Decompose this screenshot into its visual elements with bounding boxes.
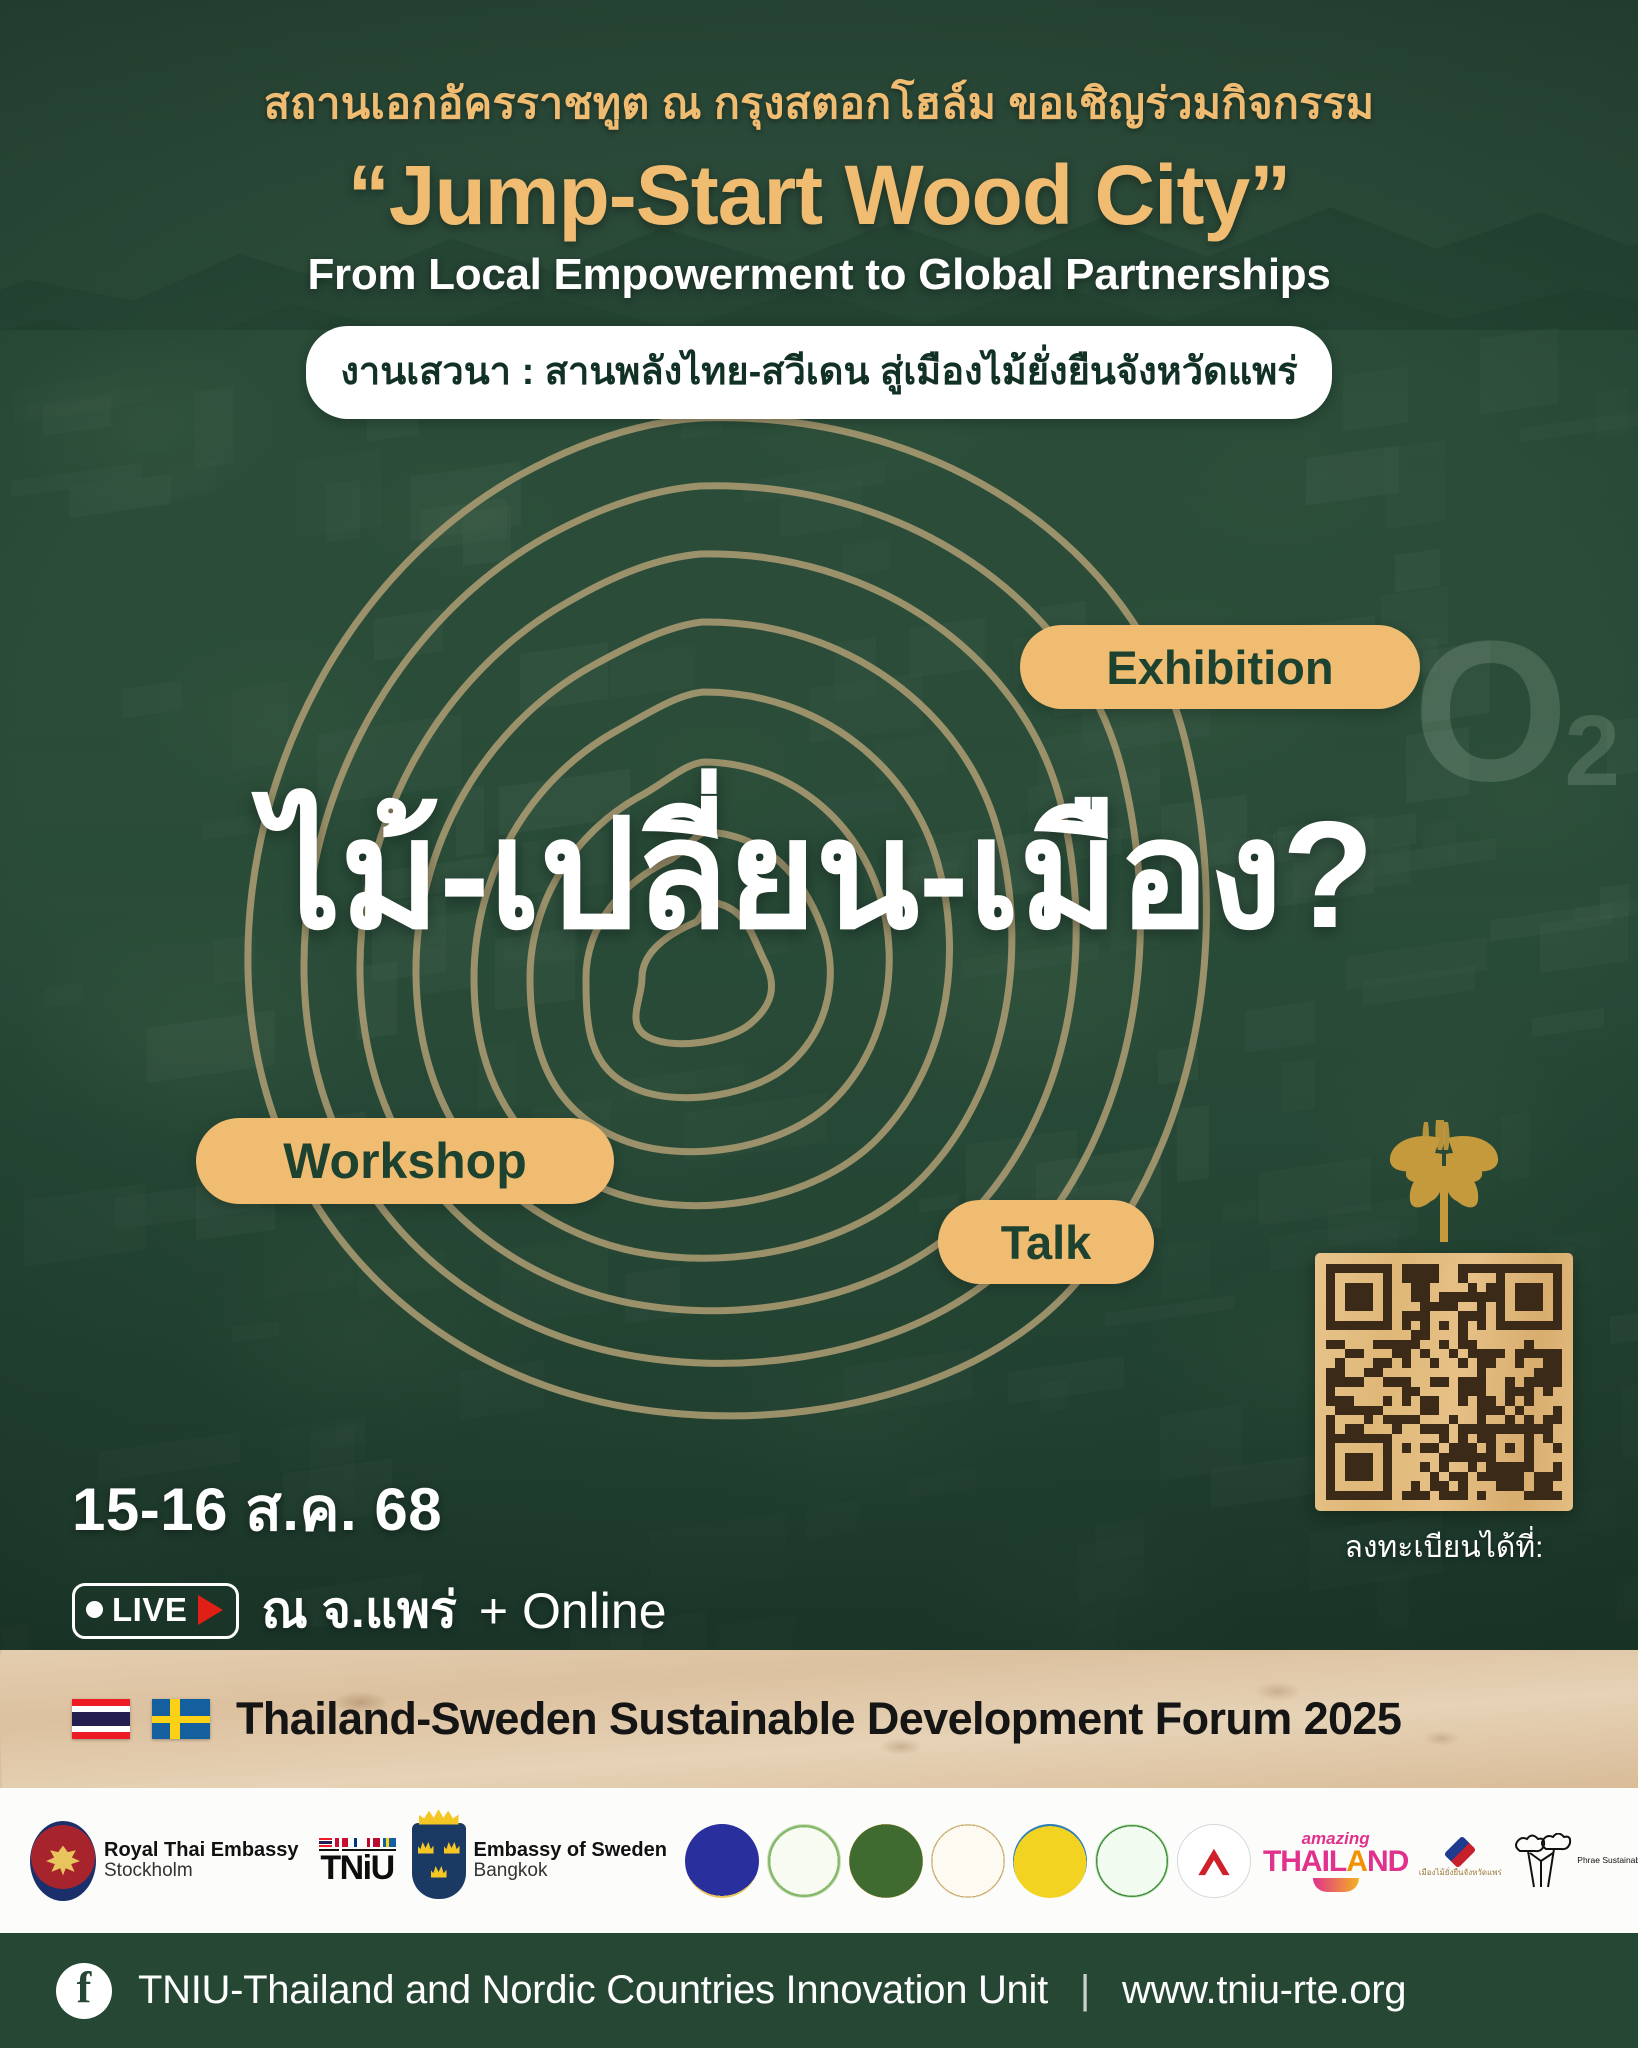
- registration-qr-block[interactable]: ลงทะเบียนได้ที่:: [1294, 1110, 1594, 1571]
- royal-thai-emblem-icon: [30, 1821, 96, 1901]
- logo-royal-thai-embassy: Royal Thai Embassy Stockholm: [30, 1821, 299, 1901]
- logo-phrae-wood-city: เมืองไม้ยั่งยืนจังหวัดแพร่: [1418, 1843, 1502, 1877]
- registration-qr-code[interactable]: [1315, 1253, 1573, 1511]
- phrae-caption: เมืองไม้ยั่งยืนจังหวัดแพร่: [1418, 1868, 1502, 1877]
- event-details: 15-16 ส.ค. 68 LIVE ณ จ.แพร่ + Online: [72, 1462, 667, 1650]
- forum-name-pill: งานเสวนา : สานพลังไทย-สวีเดน สู่เมืองไม้…: [306, 326, 1331, 419]
- event-date: 15-16 ส.ค. 68: [72, 1462, 667, 1557]
- live-badge: LIVE: [72, 1583, 239, 1639]
- event-poster: O2 สถานเอกอัครราชทูต ณ กรุงสตอกโฮล์ม ขอเ…: [0, 0, 1638, 2048]
- partner-logo-strip: Royal Thai Embassy Stockholm TNiU Embass…: [0, 1788, 1638, 1933]
- royal-thai-embassy-line2: Stockholm: [104, 1860, 193, 1881]
- logo-amazing-thailand: amazing THAILAND: [1263, 1830, 1408, 1892]
- logo-ministry-seal-7: [1177, 1824, 1251, 1898]
- trees-icon: [1510, 1833, 1572, 1889]
- wood-city-committee-caption: Phrae Sustainable Wood City Committee: [1577, 1855, 1638, 1865]
- logo-ministry-seal-2: [767, 1824, 841, 1898]
- tniu-wordmark: TNiU: [319, 1853, 396, 1884]
- embassy-sweden-line2: Bangkok: [474, 1860, 548, 1881]
- forum-banner-text: Thailand-Sweden Sustainable Development …: [236, 1693, 1401, 1745]
- o2-subscript: 2: [1564, 695, 1616, 807]
- category-pill-exhibition[interactable]: Exhibition: [1020, 625, 1420, 709]
- sweden-flag-icon: [152, 1699, 210, 1739]
- thailand-flag-icon: [72, 1699, 130, 1739]
- royal-thai-embassy-line1: Royal Thai Embassy: [104, 1839, 299, 1861]
- amazing-thailand-swoosh-icon: [1313, 1878, 1359, 1892]
- invitation-line: สถานเอกอัครราชทูต ณ กรุงสตอกโฮล์ม ขอเชิญ…: [0, 78, 1638, 132]
- poster-header: สถานเอกอัครราชทูต ณ กรุงสตอกโฮล์ม ขอเชิญ…: [0, 0, 1638, 419]
- category-pill-workshop[interactable]: Workshop: [196, 1118, 614, 1204]
- event-venue: ณ จ.แพร่: [261, 1571, 457, 1650]
- sprout-plant-icon: [1374, 1110, 1514, 1245]
- page-title: “Jump-Start Wood City”: [0, 150, 1638, 241]
- logo-wood-city-committee: Phrae Sustainable Wood City Committee: [1510, 1833, 1638, 1889]
- logo-tniu: TNiU: [319, 1838, 396, 1884]
- sweden-three-crowns-icon: [412, 1823, 466, 1899]
- live-label: LIVE: [112, 1591, 187, 1629]
- hero-headline: ไม้-เปลี่ยน-เมือง?: [0, 792, 1638, 959]
- nordic-flags-icon: [319, 1838, 396, 1847]
- website-link[interactable]: www.tniu-rte.org: [1122, 1968, 1406, 2013]
- embassy-sweden-line1: Embassy of Sweden: [474, 1839, 667, 1861]
- facebook-icon[interactable]: f: [56, 1963, 112, 2019]
- event-online-note: + Online: [479, 1582, 667, 1640]
- o2-watermark: O2: [1413, 612, 1616, 812]
- play-triangle-icon: [198, 1595, 223, 1625]
- footer-separator: |: [1074, 1968, 1096, 2013]
- forum-wood-banner: Thailand-Sweden Sustainable Development …: [0, 1650, 1638, 1788]
- amazing-thailand-wordmark: THAILAND: [1263, 1847, 1408, 1877]
- logo-embassy-of-sweden: Embassy of Sweden Bangkok: [412, 1823, 667, 1899]
- page-subtitle: From Local Empowerment to Global Partner…: [0, 250, 1638, 300]
- logo-ministry-seal-3: [849, 1824, 923, 1898]
- logo-ministry-seal-6: [1095, 1824, 1169, 1898]
- event-location-row: LIVE ณ จ.แพร่ + Online: [72, 1571, 667, 1650]
- qr-caption: ลงทะเบียนได้ที่:: [1294, 1524, 1594, 1571]
- logo-ministry-seal-5: [1013, 1824, 1087, 1898]
- record-dot-icon: [86, 1601, 103, 1618]
- o2-letter: O: [1413, 600, 1565, 823]
- logo-ministry-seal-1: [685, 1824, 759, 1898]
- category-pill-talk[interactable]: Talk: [938, 1200, 1154, 1284]
- phrae-diamond-icon: [1457, 1840, 1463, 1863]
- facebook-page-name[interactable]: TNIU-Thailand and Nordic Countries Innov…: [138, 1968, 1048, 2013]
- logo-ministry-seal-4: [931, 1824, 1005, 1898]
- poster-footer: f TNIU-Thailand and Nordic Countries Inn…: [0, 1933, 1638, 2048]
